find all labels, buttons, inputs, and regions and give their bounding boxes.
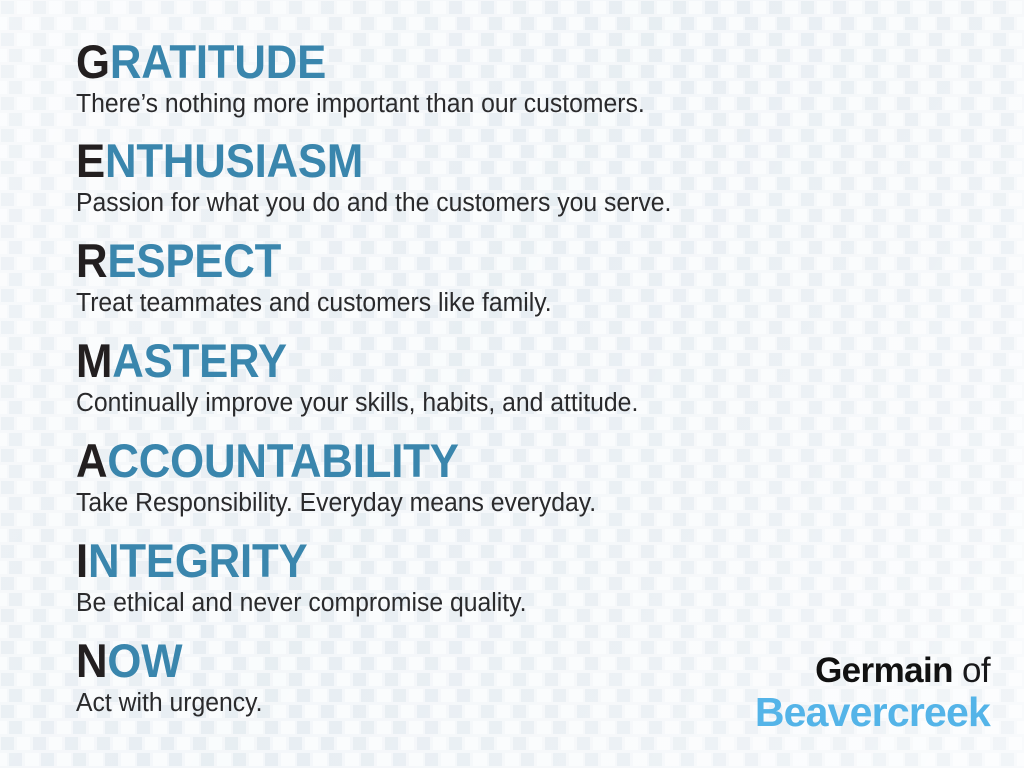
value-initial-letter: R bbox=[76, 234, 107, 287]
value-heading-now: NOW bbox=[76, 636, 255, 686]
value-initial-letter: I bbox=[76, 534, 88, 587]
value-heading-accountability: ACCOUNTABILITY bbox=[76, 436, 575, 486]
value-description-integrity: Be ethical and never compromise quality. bbox=[76, 588, 527, 618]
value-heading-remainder: RATITUDE bbox=[110, 35, 326, 88]
value-block-respect: RESPECT Treat teammates and customers li… bbox=[76, 236, 566, 318]
value-heading-remainder: CCOUNTABILITY bbox=[107, 434, 458, 487]
dealership-logo: Germain of Beavercreek bbox=[755, 652, 990, 734]
value-description-respect: Treat teammates and customers like famil… bbox=[76, 288, 552, 318]
value-heading-remainder: NTHUSIASM bbox=[105, 134, 363, 187]
logo-brand-name: Germain bbox=[815, 651, 953, 690]
value-description-now: Act with urgency. bbox=[76, 688, 263, 718]
value-description-gratitude: There’s nothing more important than our … bbox=[76, 89, 645, 119]
logo-primary-line: Germain of bbox=[755, 652, 990, 690]
value-block-now: NOW Act with urgency. bbox=[76, 636, 268, 718]
value-initial-letter: E bbox=[76, 134, 105, 187]
value-heading-integrity: INTEGRITY bbox=[76, 536, 508, 586]
value-initial-letter: M bbox=[76, 334, 112, 387]
value-heading-remainder: NTEGRITY bbox=[88, 534, 308, 587]
value-block-enthusiasm: ENTHUSIASM Passion for what you do and t… bbox=[76, 136, 690, 218]
value-initial-letter: N bbox=[76, 634, 107, 687]
value-block-integrity: INTEGRITY Be ethical and never compromis… bbox=[76, 536, 540, 618]
value-heading-enthusiasm: ENTHUSIASM bbox=[76, 136, 647, 186]
poster-canvas: GRATITUDE There’s nothing more important… bbox=[0, 0, 1024, 768]
logo-location-name: Beavercreek bbox=[755, 690, 990, 734]
value-description-mastery: Continually improve your skills, habits,… bbox=[76, 388, 638, 418]
value-heading-remainder: OW bbox=[107, 634, 182, 687]
value-heading-remainder: ESPECT bbox=[107, 234, 281, 287]
poster-content: GRATITUDE There’s nothing more important… bbox=[0, 0, 1024, 768]
value-block-gratitude: GRATITUDE There’s nothing more important… bbox=[76, 37, 662, 119]
value-description-accountability: Take Responsibility. Everyday means ever… bbox=[76, 488, 596, 518]
value-heading-remainder: ASTERY bbox=[112, 334, 287, 387]
value-block-mastery: MASTERY Continually improve your skills,… bbox=[76, 336, 656, 418]
value-heading-respect: RESPECT bbox=[76, 236, 532, 286]
value-heading-gratitude: GRATITUDE bbox=[76, 37, 621, 87]
value-heading-mastery: MASTERY bbox=[76, 336, 615, 386]
value-initial-letter: G bbox=[76, 35, 110, 88]
value-description-enthusiasm: Passion for what you do and the customer… bbox=[76, 188, 671, 218]
value-initial-letter: A bbox=[76, 434, 107, 487]
logo-connector-word: of bbox=[953, 651, 990, 690]
value-block-accountability: ACCOUNTABILITY Take Responsibility. Ever… bbox=[76, 436, 612, 518]
